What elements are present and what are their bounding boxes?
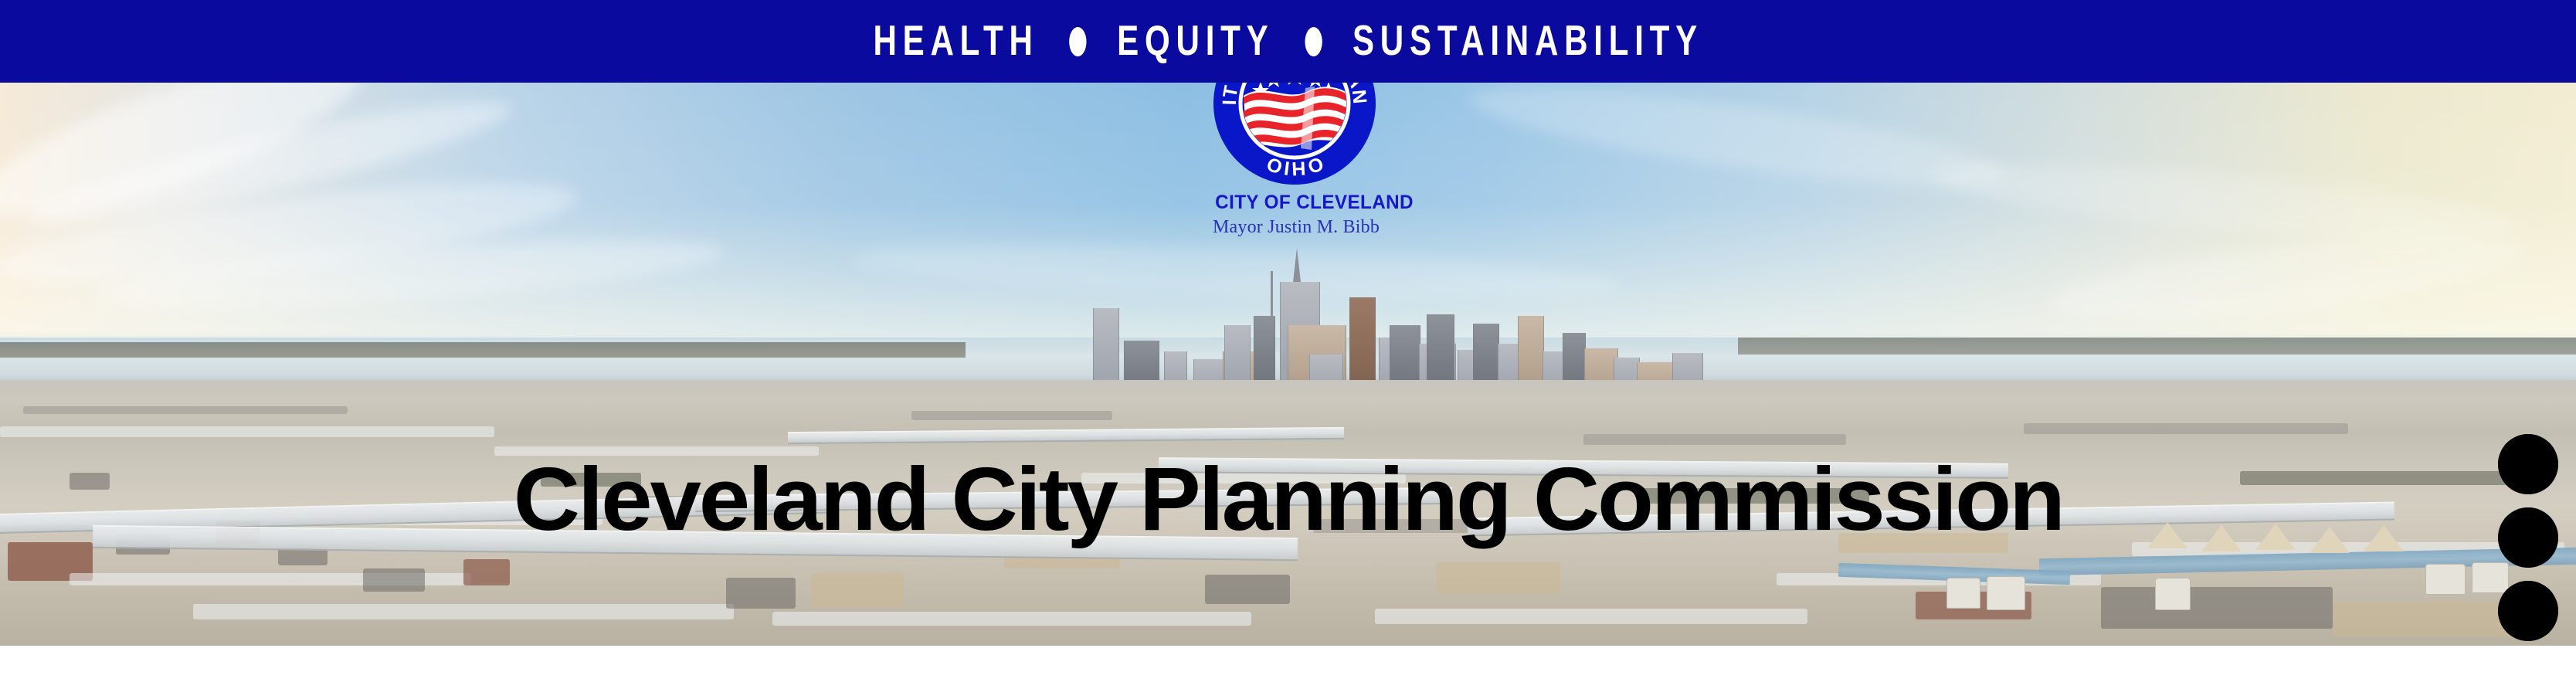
tagline-word-sustainability: SUSTAINABILITY — [1352, 20, 1703, 63]
organization-name: CITY OF CLEVELAND — [1215, 193, 1374, 212]
dot-separator-icon — [1069, 26, 1086, 56]
tagline-word-health: HEALTH — [873, 20, 1038, 63]
page-banner: HEALTH EQUITY SUSTAINABILITY — [0, 0, 2576, 682]
dot-separator-icon — [1305, 26, 1322, 56]
youtube-icon[interactable] — [2498, 434, 2558, 494]
facebook-icon[interactable] — [2498, 581, 2558, 641]
tagline-band: HEALTH EQUITY SUSTAINABILITY — [0, 0, 2576, 83]
shoreline-east — [1738, 338, 2576, 355]
downtown-skyline — [1078, 253, 1711, 399]
tagline-word-equity: EQUITY — [1117, 20, 1274, 63]
city-wordmark: CITY OF CLEVELAND Mayor Justin M. Bibb — [1213, 193, 1376, 236]
instagram-icon[interactable] — [2498, 507, 2558, 568]
shoreline-west — [0, 342, 966, 358]
foreground-cityscape — [0, 380, 2576, 646]
social-links — [2498, 434, 2558, 641]
mayor-name: Mayor Justin M. Bibb — [1213, 218, 1376, 236]
